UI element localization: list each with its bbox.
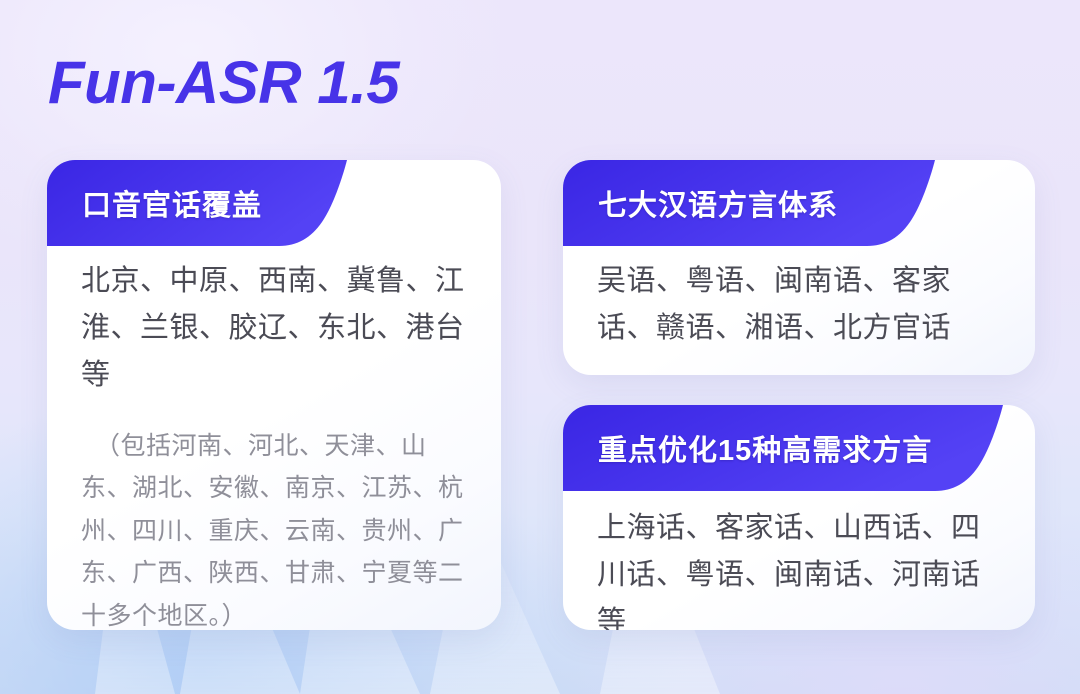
card-families-heading-text: 七大汉语方言体系 <box>563 182 838 224</box>
card-accent-heading-text: 口音官话覆盖 <box>47 182 262 224</box>
card-priority-heading-text: 重点优化15种高需求方言 <box>563 427 932 469</box>
card-priority-optimized-dialects: 重点优化15种高需求方言 上海话、客家话、山西话、四川话、粤语、闽南话、河南话等 <box>563 405 1035 630</box>
page-title: Fun-ASR 1.5 <box>48 48 399 117</box>
card-accent-mandarin-coverage: 口音官话覆盖 北京、中原、西南、冀鲁、江淮、兰银、胶辽、东北、港台等 （包括河南… <box>47 160 501 630</box>
card-accent-detail-text: （包括河南、河北、天津、山东、湖北、安徽、南京、江苏、杭州、四川、重庆、云南、贵… <box>81 425 467 630</box>
card-priority-main-text: 上海话、客家话、山西话、四川话、粤语、闽南话、河南话等 <box>597 505 1001 630</box>
card-families-heading-banner: 七大汉语方言体系 <box>563 160 1035 246</box>
card-priority-body: 上海话、客家话、山西话、四川话、粤语、闽南话、河南话等 <box>563 505 1035 630</box>
card-seven-dialect-families: 七大汉语方言体系 吴语、粤语、闽南语、客家话、赣语、湘语、北方官话 <box>563 160 1035 375</box>
card-priority-heading-banner: 重点优化15种高需求方言 <box>563 405 1035 491</box>
poster-canvas: Fun-ASR 1.5 口音官话覆盖 北京、中原、西南、冀鲁、江淮、兰银、胶辽、… <box>0 0 1080 694</box>
card-accent-heading-banner: 口音官话覆盖 <box>47 160 501 246</box>
card-families-main-text: 吴语、粤语、闽南语、客家话、赣语、湘语、北方官话 <box>597 258 1001 352</box>
card-accent-main-text: 北京、中原、西南、冀鲁、江淮、兰银、胶辽、东北、港台等 <box>81 258 467 399</box>
card-families-body: 吴语、粤语、闽南语、客家话、赣语、湘语、北方官话 <box>563 258 1035 352</box>
card-accent-body: 北京、中原、西南、冀鲁、江淮、兰银、胶辽、东北、港台等 （包括河南、河北、天津、… <box>47 258 501 630</box>
